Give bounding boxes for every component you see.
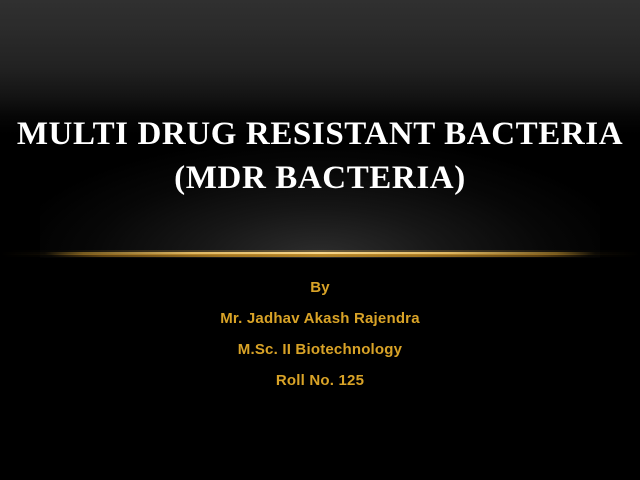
slide-background-gradient [0,0,640,480]
subtitle-line-roll-number: Roll No. 125 [0,365,640,396]
title-line-1: MULTI DRUG RESISTANT BACTERIA [0,112,640,156]
subtitle-line-by: By [0,272,640,303]
subtitle-line-author-name: Mr. Jadhav Akash Rajendra [0,303,640,334]
slide-title: MULTI DRUG RESISTANT BACTERIA (MDR BACTE… [0,112,640,200]
title-line-2: (MDR BACTERIA) [0,156,640,200]
divider-shadow [0,254,640,257]
slide-subtitle: By Mr. Jadhav Akash Rajendra M.Sc. II Bi… [0,272,640,396]
gold-divider-rule [0,250,640,258]
subtitle-line-course: M.Sc. II Biotechnology [0,334,640,365]
presentation-title-slide: MULTI DRUG RESISTANT BACTERIA (MDR BACTE… [0,0,640,480]
